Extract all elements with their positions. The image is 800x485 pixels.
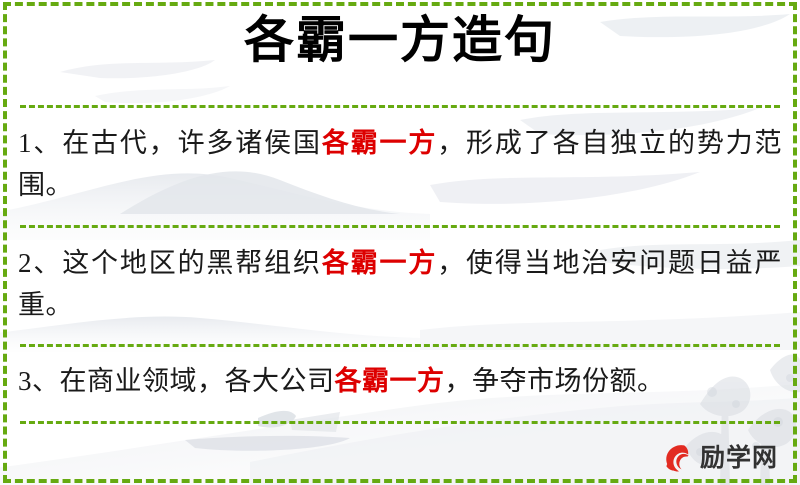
watermark-logo-text: 励学网 <box>700 446 778 471</box>
separator-3 <box>20 344 780 347</box>
example-sentence-2: 2、这个地区的黑帮组织各霸一方，使得当地治安问题日益严重。 <box>18 242 782 326</box>
sentence-2-keyword: 各霸一方 <box>322 248 437 278</box>
slide-page: 各霸一方造句 1、在古代，许多诸侯国各霸一方，形成了各自独立的势力范围。 2、这… <box>0 0 800 485</box>
site-watermark-logo: 励学网 <box>660 441 778 475</box>
separator-4 <box>20 421 780 424</box>
page-frame-left <box>3 2 7 483</box>
page-frame-right <box>793 2 797 483</box>
sentence-3-suffix: ，争夺市场份额。 <box>445 366 665 396</box>
separator-1 <box>20 105 780 108</box>
sentence-1-keyword: 各霸一方 <box>322 128 437 158</box>
example-sentence-3: 3、在商业领域，各大公司各霸一方，争夺市场份额。 <box>18 360 782 402</box>
page-title: 各霸一方造句 <box>0 12 800 70</box>
page-frame-top <box>3 2 797 6</box>
red-swirl-flame-icon <box>660 441 694 475</box>
page-frame-bottom <box>3 479 797 483</box>
separator-2 <box>20 225 780 228</box>
sentence-3-keyword: 各霸一方 <box>335 366 445 396</box>
sentence-3-prefix: 3、在商业领域，各大公司 <box>18 366 335 396</box>
example-sentence-1: 1、在古代，许多诸侯国各霸一方，形成了各自独立的势力范围。 <box>18 122 782 206</box>
sentence-2-prefix: 2、这个地区的黑帮组织 <box>18 248 322 278</box>
sentence-1-prefix: 1、在古代，许多诸侯国 <box>18 128 322 158</box>
